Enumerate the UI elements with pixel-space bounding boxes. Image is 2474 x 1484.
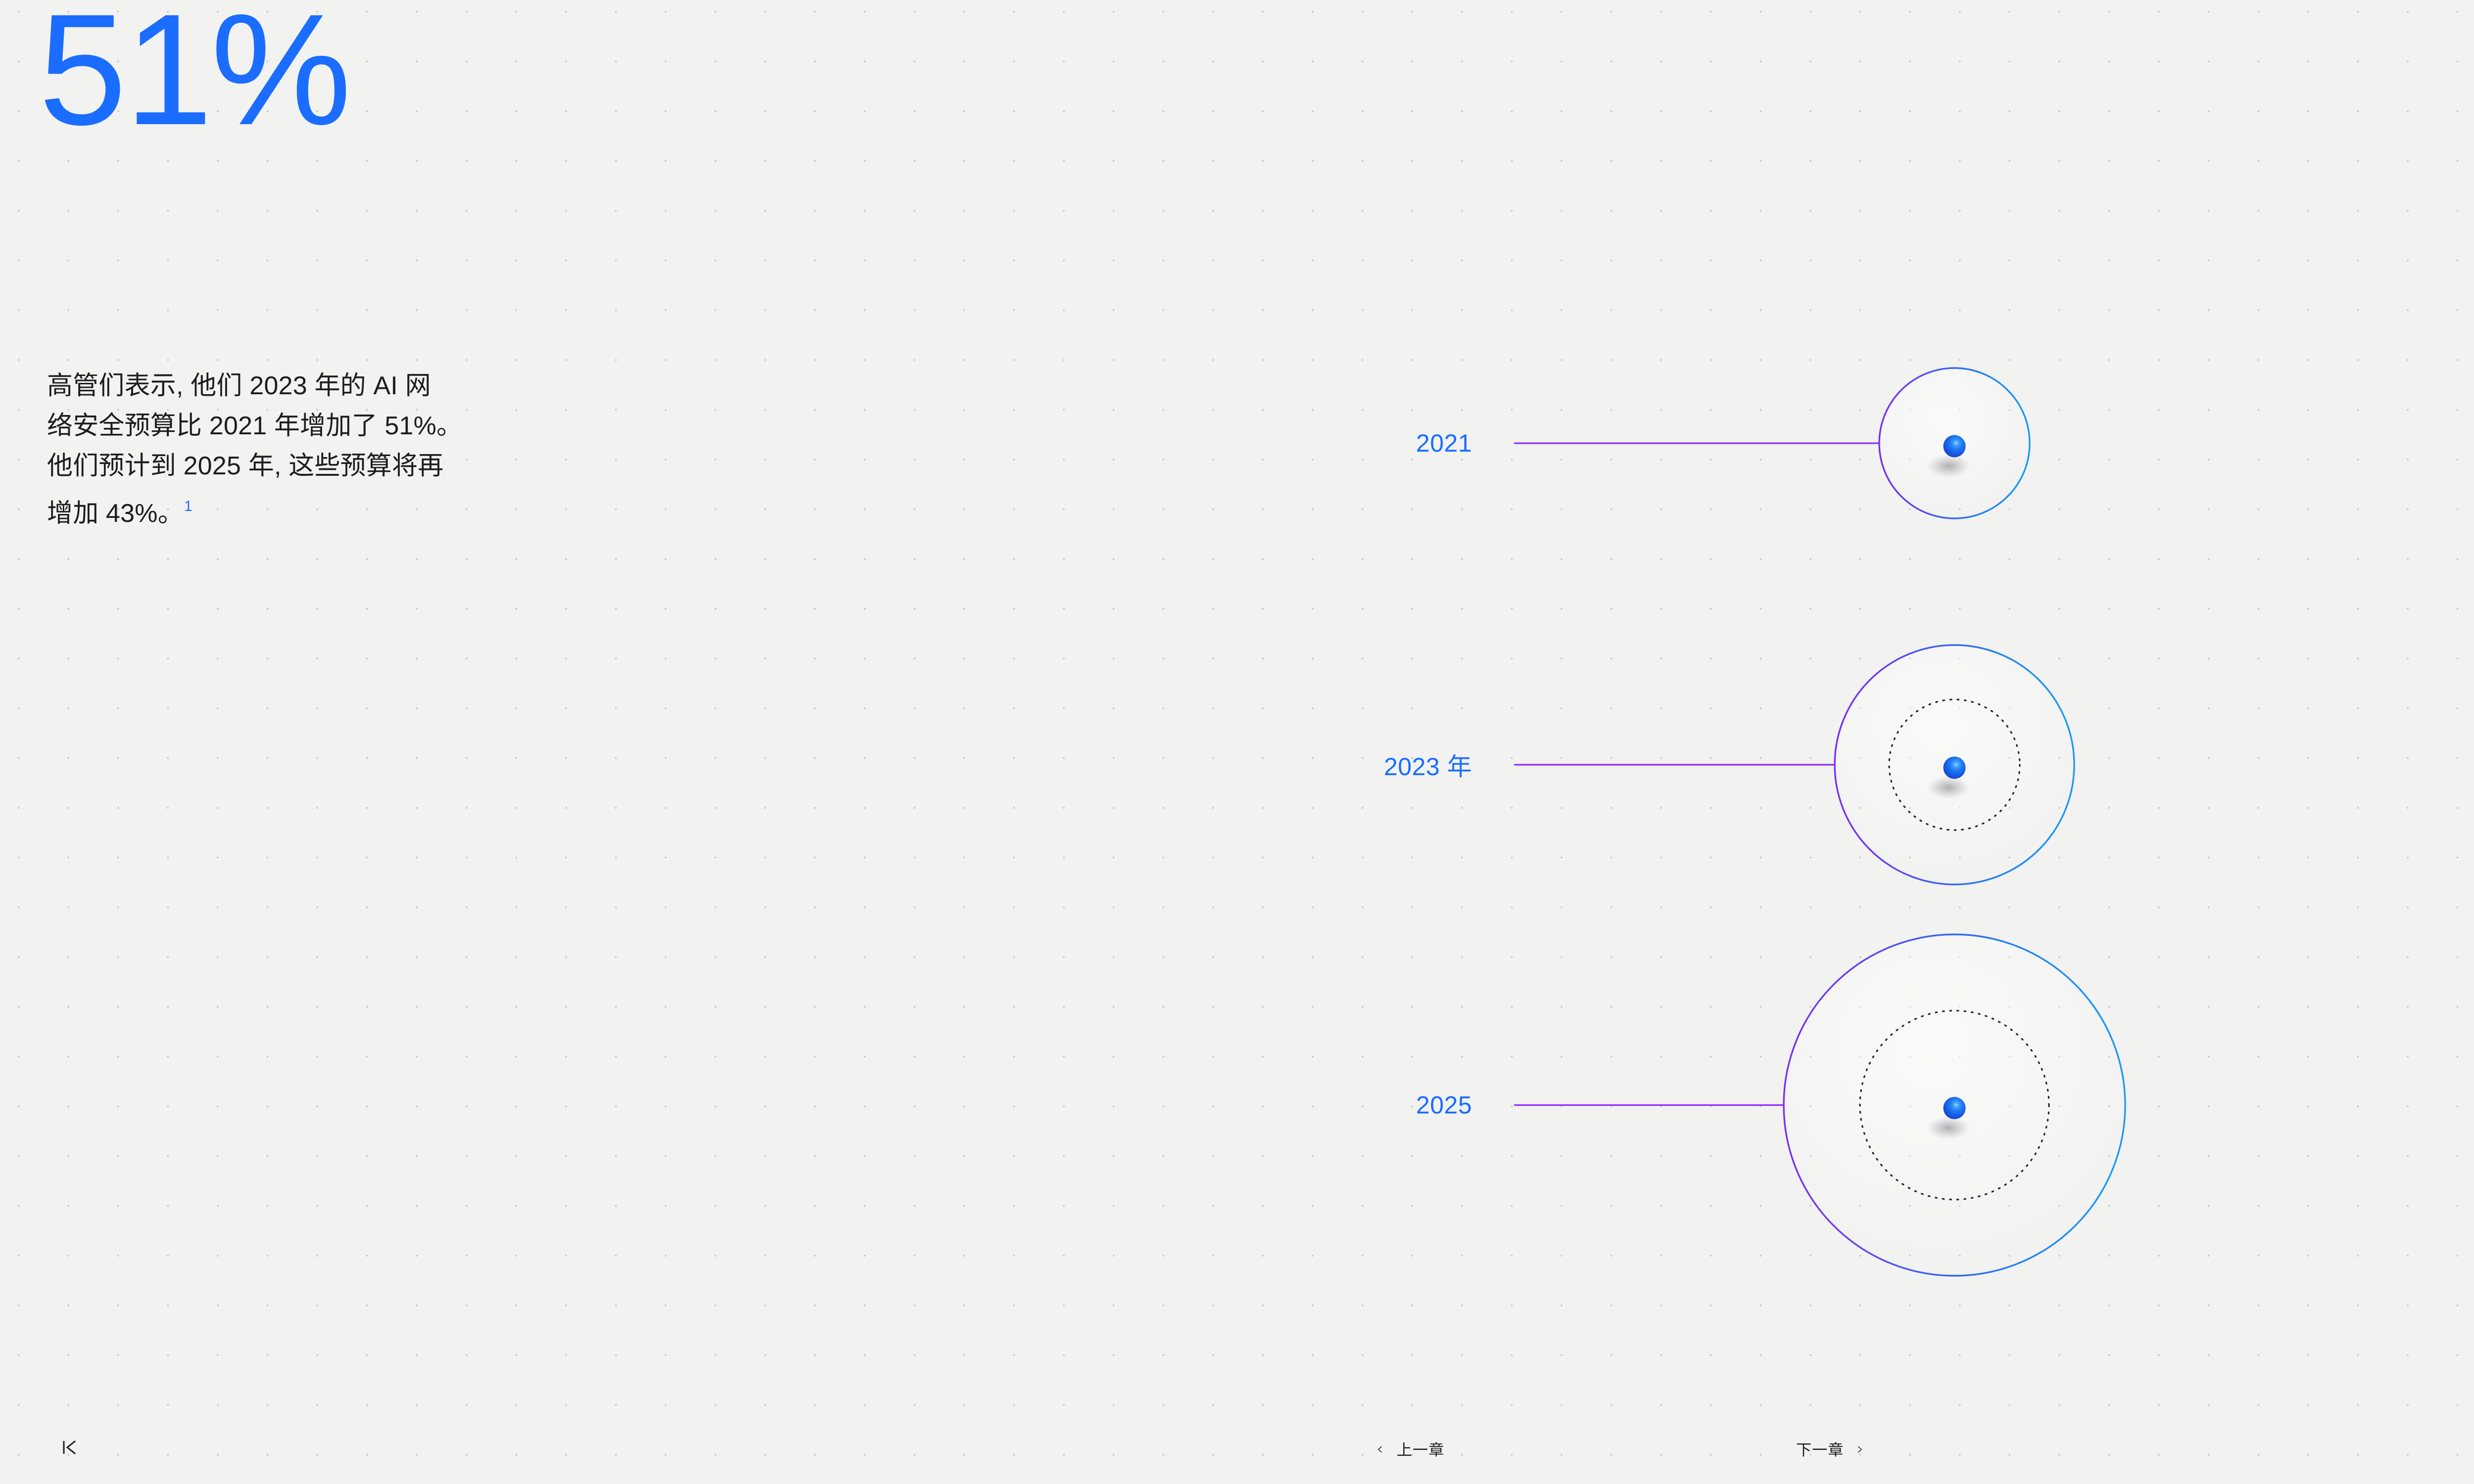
sphere-2025	[1944, 1097, 1966, 1119]
bubble-chart: 2021 2023 年 2025	[0, 0, 2474, 1484]
page-title: 51%	[39, 0, 349, 148]
footnote-marker[interactable]: 1	[184, 498, 192, 514]
bubble-label-2025: 2025	[1416, 1091, 1472, 1119]
bubble-sheen-2021	[1879, 368, 2030, 518]
prev-chapter-label: 上一章	[1397, 1438, 1445, 1460]
bubble-ring-2021	[1879, 368, 2030, 518]
next-chapter-label: 下一章	[1796, 1438, 1844, 1460]
body-line-3: 他们预计到 2025 年, 这些预算将再	[47, 452, 443, 480]
bubble-label-2023: 2023 年	[1384, 747, 1472, 783]
bubble-chart-svg	[0, 0, 2474, 1484]
body-line-1: 高管们表示, 他们 2023 年的 AI 网	[47, 371, 431, 400]
chevron-left-icon: ‹	[1377, 1440, 1384, 1457]
bubble-label-2021: 2021	[1416, 429, 1472, 458]
body-paragraph: 高管们表示, 他们 2023 年的 AI 网 络安全预算比 2021 年增加了 …	[47, 366, 829, 534]
sphere-2021	[1944, 435, 1966, 458]
skip-to-start-icon	[59, 1437, 80, 1460]
bubble-group-2025	[1514, 934, 2125, 1276]
slide-canvas: 51% 高管们表示, 他们 2023 年的 AI 网 络安全预算比 2021 年…	[0, 0, 2474, 1484]
bubble-sheen-2023	[1835, 645, 2074, 884]
prev-chapter-button[interactable]: ‹ 上一章	[1377, 1438, 1444, 1460]
inner-dotted-ring-2025	[1860, 1011, 2049, 1200]
body-line-2: 络安全预算比 2021 年增加了 51%。	[47, 412, 462, 440]
bubble-ring-2025	[1784, 934, 2125, 1276]
chevron-right-icon: ›	[1857, 1440, 1864, 1457]
bubble-group-2023	[1514, 645, 2074, 884]
footer-bar: ‹ 上一章 下一章 › 8	[0, 1410, 2474, 1484]
sphere-shadow-2025	[1927, 1116, 1970, 1140]
inner-dotted-ring-2023	[1889, 699, 2020, 830]
bubble-ring-2023	[1835, 645, 2074, 884]
bubble-sheen-2025	[1784, 934, 2125, 1276]
next-chapter-button[interactable]: 下一章 ›	[1796, 1438, 1864, 1460]
bubble-group-2021	[1514, 368, 2030, 518]
sphere-2023	[1944, 757, 1966, 779]
sphere-shadow-2023	[1927, 776, 1970, 799]
sphere-shadow-2021	[1927, 454, 1970, 478]
skip-to-start-button[interactable]	[53, 1435, 86, 1462]
body-line-4: 增加 43%。	[47, 499, 184, 528]
